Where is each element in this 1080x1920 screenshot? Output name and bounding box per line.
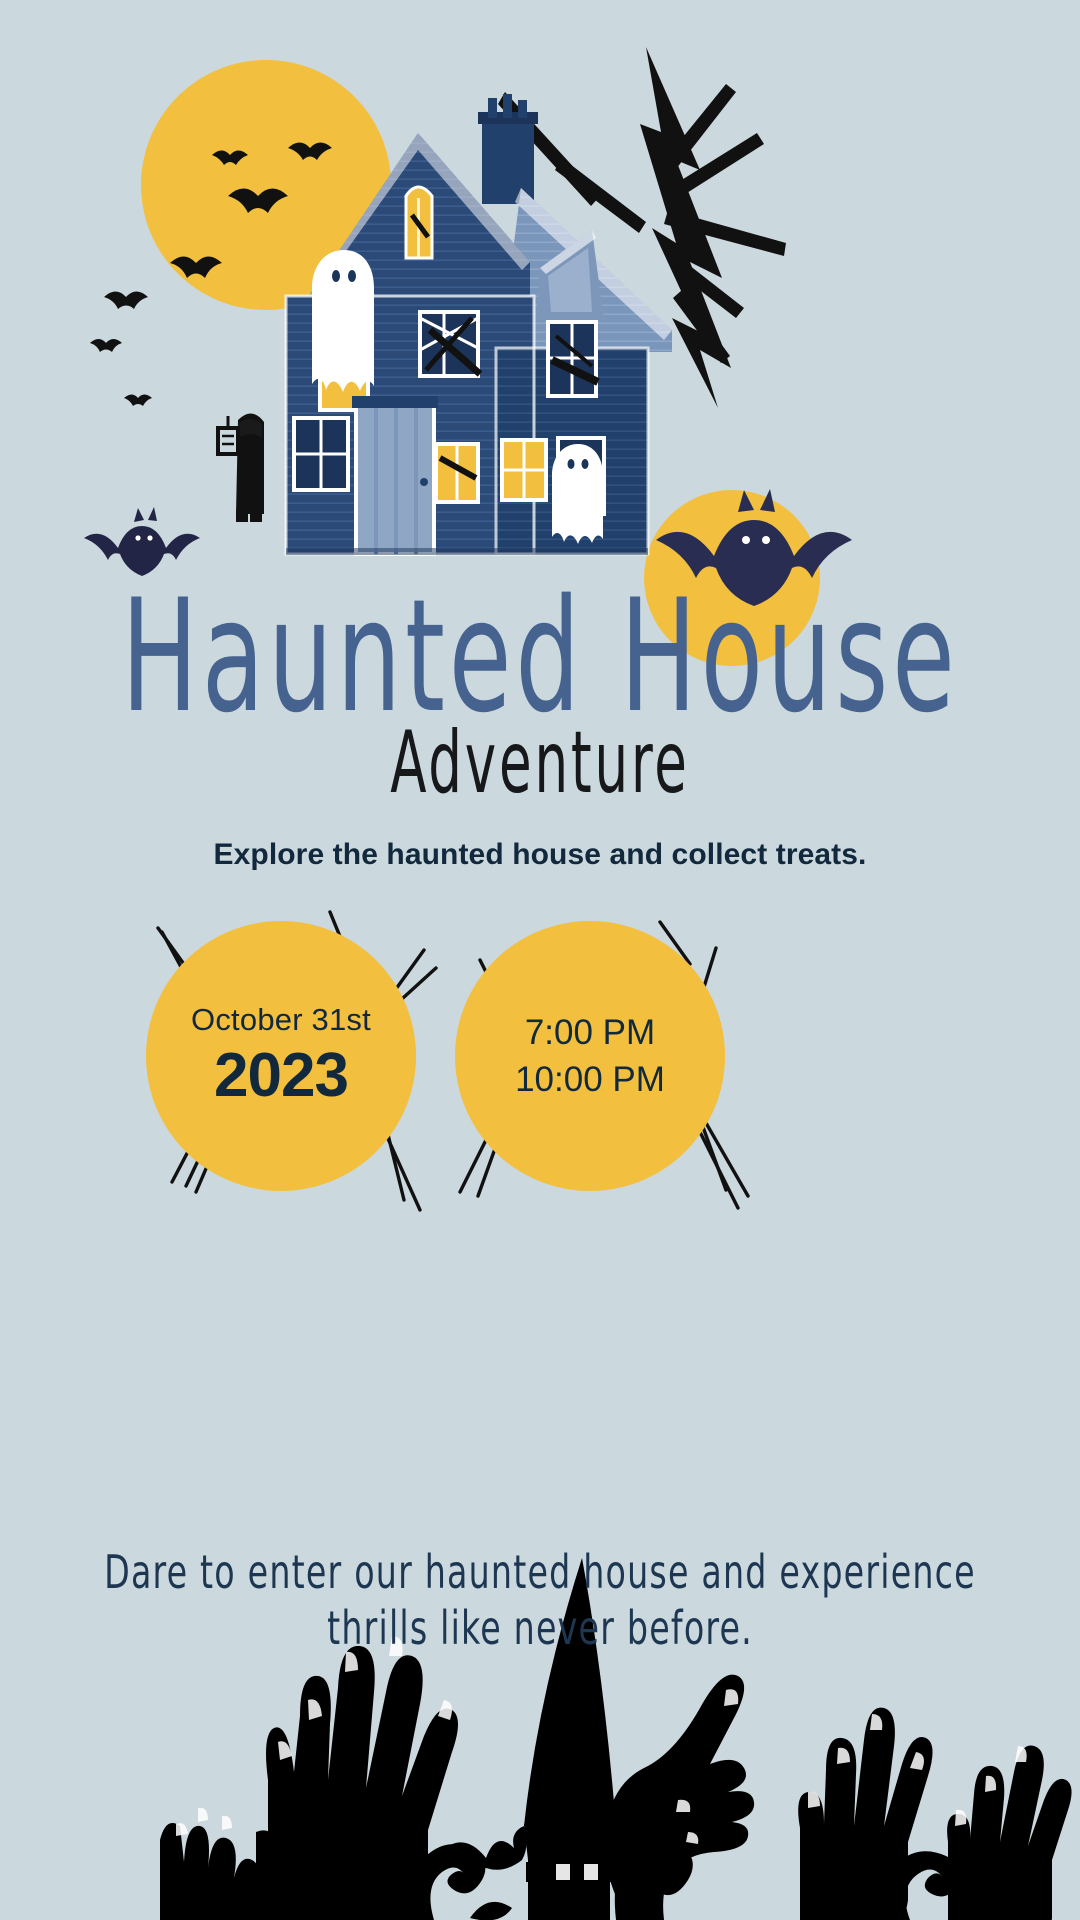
window-broken-right xyxy=(548,322,598,396)
front-door-icon xyxy=(352,396,438,554)
window-lower-left xyxy=(294,418,348,490)
poster-title-container: Haunted House xyxy=(0,578,1080,696)
halloween-poster: Haunted House Adventure Explore the haun… xyxy=(0,0,1080,1920)
event-end-time: 10:00 PM xyxy=(515,1056,665,1103)
window-lower-yellow-1 xyxy=(436,444,478,502)
attic-window-icon xyxy=(406,187,432,258)
lightning-crack-icon xyxy=(498,47,786,408)
window-ghost-right xyxy=(552,438,604,544)
page-title: Haunted House xyxy=(22,578,1059,734)
poster-subtitle: Adventure xyxy=(27,712,1053,813)
event-start-time: 7:00 PM xyxy=(525,1009,655,1056)
window-ghost-left xyxy=(312,250,374,410)
haunted-house-icon xyxy=(286,94,672,555)
window-lower-yellow-2 xyxy=(502,440,546,500)
time-badge: 7:00 PM 10:00 PM xyxy=(455,921,725,1191)
date-badge: October 31st 2023 xyxy=(146,921,416,1191)
poster-bottom-copy: Dare to enter our haunted house and expe… xyxy=(0,1545,1080,1656)
poster-tagline: Explore the haunted house and collect tr… xyxy=(0,838,1080,872)
moon-circle-icon xyxy=(141,60,391,310)
event-year: 2023 xyxy=(214,1040,348,1111)
window-broken-upper xyxy=(420,312,480,376)
bat-icon xyxy=(90,143,332,407)
event-date: October 31st xyxy=(191,1002,371,1038)
poster-subtitle-container: Adventure xyxy=(0,712,1080,785)
grim-reaper-icon xyxy=(218,413,264,522)
bottom-copy-line-2: thrills like never before. xyxy=(0,1594,1080,1663)
